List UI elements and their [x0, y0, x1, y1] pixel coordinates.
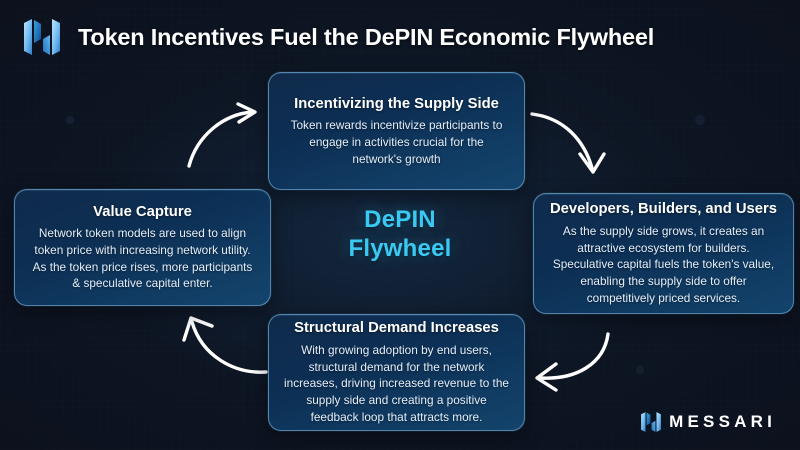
page-title: Token Incentives Fuel the DePIN Economic… — [78, 24, 654, 51]
curved-arrow-down-right-icon — [522, 106, 614, 182]
messari-wordmark: MESSARI — [669, 412, 776, 432]
card-body: Token rewards incentivize participants t… — [283, 117, 510, 167]
curved-arrow-up-left-icon — [178, 300, 278, 382]
card-incentivizing-the-supply-side[interactable]: Incentivizing the Supply Side Token rewa… — [268, 72, 525, 190]
card-title: Incentivizing the Supply Side — [294, 95, 499, 113]
card-body: With growing adoption by end users, stru… — [283, 342, 510, 426]
card-title: Structural Demand Increases — [294, 319, 499, 337]
card-title: Value Capture — [93, 203, 192, 221]
footer-logo: MESSARI — [640, 411, 776, 433]
messari-logo-mark-icon — [640, 411, 662, 433]
center-label-line1: DePIN — [300, 205, 500, 234]
card-body: Network token models are used to align t… — [29, 225, 256, 292]
curved-arrow-up-right-icon — [183, 100, 275, 170]
card-developers-builders-and-users[interactable]: Developers, Builders, and Users As the s… — [533, 193, 794, 314]
card-body: As the supply side grows, it creates an … — [548, 223, 779, 307]
curved-arrow-down-left-icon — [524, 330, 624, 400]
center-label-line2: Flywheel — [300, 234, 500, 263]
infographic-canvas: Token Incentives Fuel the DePIN Economic… — [0, 0, 800, 450]
card-structural-demand-increases[interactable]: Structural Demand Increases With growing… — [268, 314, 525, 431]
messari-logo-mark-icon — [22, 17, 62, 57]
card-title: Developers, Builders, and Users — [550, 200, 777, 218]
center-label: DePIN Flywheel — [300, 205, 500, 264]
card-value-capture[interactable]: Value Capture Network token models are u… — [14, 189, 271, 306]
header: Token Incentives Fuel the DePIN Economic… — [22, 17, 654, 57]
